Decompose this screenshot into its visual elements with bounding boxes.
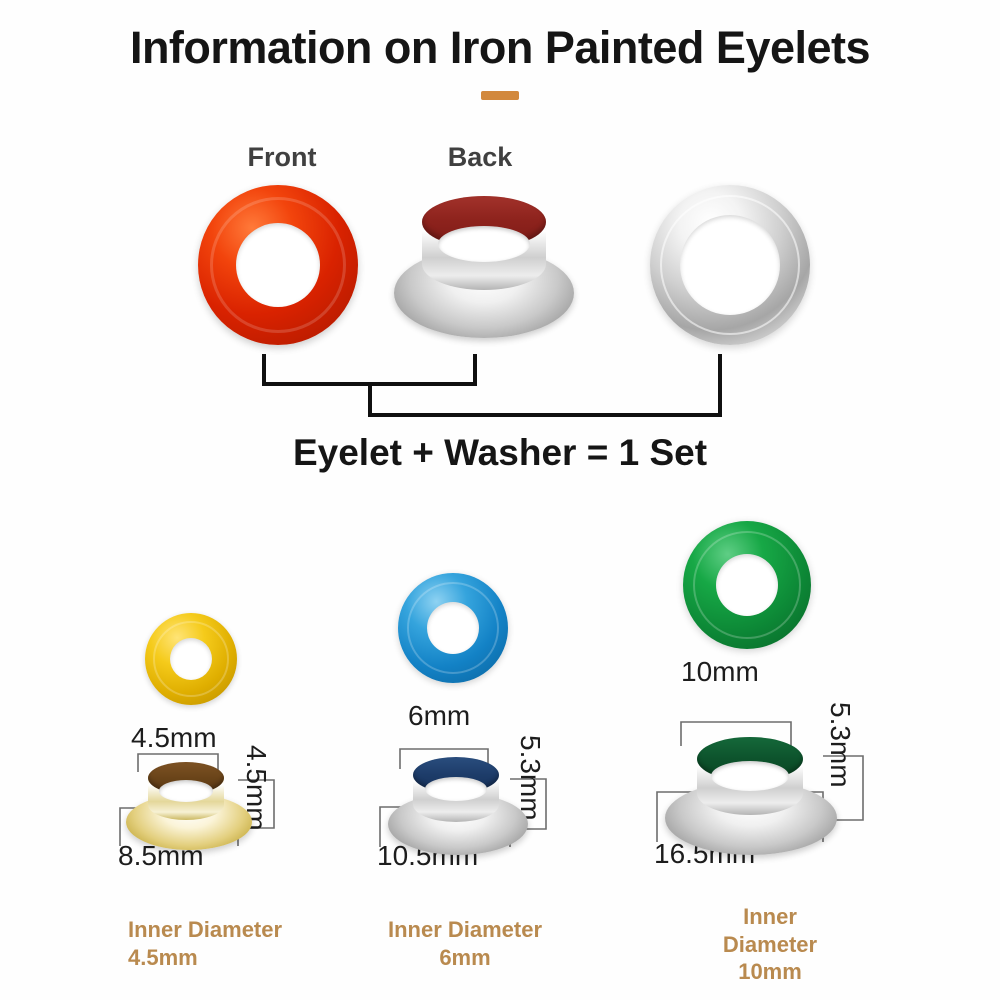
washer-image — [650, 185, 810, 345]
green-caption-line-1: Inner — [700, 903, 840, 931]
yellow-eyelet-top-image — [145, 613, 237, 705]
yellow-eyelet-side-image — [126, 762, 252, 852]
back-label: Back — [415, 142, 545, 173]
set-connector-bracket — [250, 352, 750, 437]
green-caption: Inner Diameter 10mm — [700, 903, 840, 986]
green-eyelet-side-image — [665, 737, 837, 857]
front-eyelet-bore — [236, 223, 320, 307]
green-inner-diameter-label: 10mm — [681, 656, 759, 688]
green-eyelet-top-image — [683, 521, 811, 649]
blue-eyelet-bore — [427, 602, 479, 654]
back-eyelet-bore — [438, 226, 530, 262]
yellow-eyelet-side-bore — [159, 780, 213, 802]
blue-caption-line-1: Inner Diameter — [355, 916, 575, 944]
blue-eyelet-side-bore — [425, 777, 487, 801]
blue-caption: Inner Diameter 6mm — [355, 916, 575, 971]
page-title: Information on Iron Painted Eyelets — [0, 22, 1000, 74]
title-divider-bar — [481, 91, 519, 100]
yellow-caption: Inner Diameter 4.5mm — [128, 916, 338, 971]
set-equation-text: Eyelet + Washer = 1 Set — [0, 432, 1000, 474]
front-label: Front — [212, 142, 352, 173]
blue-inner-diameter-label: 6mm — [408, 700, 470, 732]
green-caption-line-2: Diameter — [700, 931, 840, 959]
yellow-caption-line-2: 4.5mm — [128, 944, 338, 972]
infographic-stage: Information on Iron Painted Eyelets Fron… — [0, 0, 1000, 1000]
blue-eyelet-top-image — [398, 573, 508, 683]
blue-caption-line-2: 6mm — [355, 944, 575, 972]
yellow-inner-diameter-label: 4.5mm — [131, 722, 217, 754]
washer-bore — [680, 215, 780, 315]
yellow-eyelet-bore — [170, 638, 212, 680]
yellow-caption-line-1: Inner Diameter — [128, 916, 338, 944]
green-eyelet-side-bore — [711, 761, 789, 791]
front-eyelet-image — [198, 185, 358, 345]
blue-eyelet-side-image — [388, 757, 528, 857]
back-eyelet-image — [394, 196, 574, 341]
green-eyelet-bore — [716, 554, 778, 616]
green-caption-line-3: 10mm — [700, 958, 840, 986]
